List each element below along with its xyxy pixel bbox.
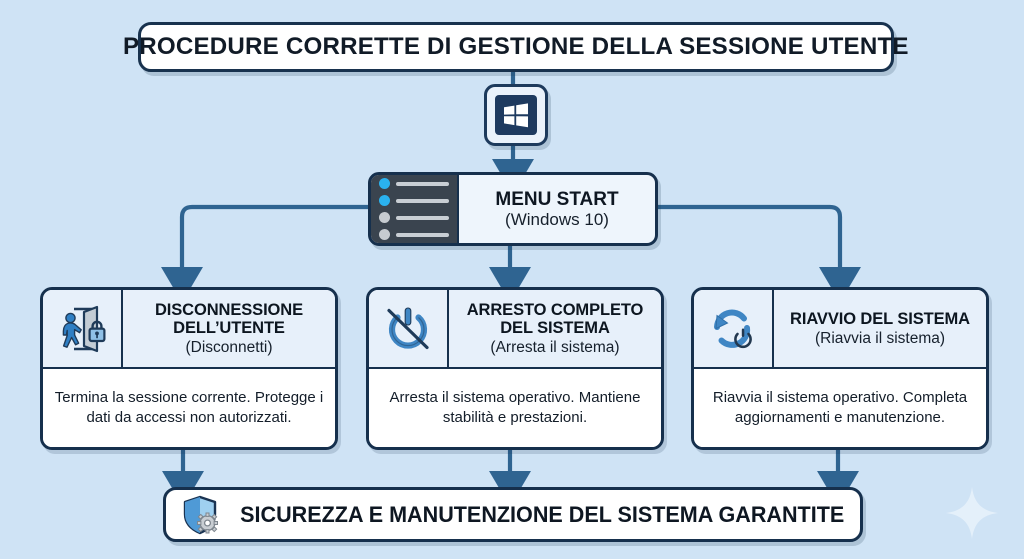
start-menu-subtitle: (Windows 10) — [505, 210, 609, 229]
menu-dot-inactive — [379, 229, 390, 240]
card-description-area: Riavvia il sistema operativo. Completa a… — [694, 369, 986, 447]
card-description-area: Termina la sessione corrente. Protegge i… — [43, 369, 335, 447]
card-description: Termina la sessione corrente. Protegge i… — [51, 388, 327, 429]
windows-logo-chip — [484, 84, 548, 146]
card-subtitle: (Disconnetti) — [186, 339, 273, 356]
menu-bar — [396, 199, 449, 203]
card-header: ARRESTO COMPLETO DEL SISTEMA (Arresta il… — [369, 290, 661, 369]
menu-icon-row — [379, 212, 449, 223]
menu-icon-row — [379, 178, 449, 189]
card-description: Arresta il sistema operativo. Mantiene s… — [377, 388, 653, 429]
restart-power-glyph — [705, 301, 761, 357]
card-titles: DISCONNESSIONE DELL’UTENTE (Disconnetti) — [123, 290, 335, 367]
windows-logo-glyph — [503, 103, 529, 128]
card-titles: RIAVVIO DEL SISTEMA (Riavvia il sistema) — [774, 290, 986, 367]
card-header: RIAVVIO DEL SISTEMA (Riavvia il sistema) — [694, 290, 986, 369]
card-title-line1: ARRESTO COMPLETO — [467, 301, 644, 319]
card-title-line1: DISCONNESSIONE — [155, 301, 303, 319]
card-subtitle: (Riavvia il sistema) — [815, 330, 945, 347]
card-description: Riavvia il sistema operativo. Completa a… — [702, 388, 978, 429]
menu-icon-row — [379, 195, 449, 206]
shield-gear-glyph — [180, 495, 220, 535]
menu-dot-inactive — [379, 212, 390, 223]
card-description-area: Arresta il sistema operativo. Mantiene s… — [369, 369, 661, 447]
diagram-canvas: PROCEDURE CORRETTE DI GESTIONE DELLA SES… — [0, 0, 1024, 559]
option-card-shutdown: ARRESTO COMPLETO DEL SISTEMA (Arresta il… — [366, 287, 664, 450]
power-off-slash-icon — [369, 290, 449, 367]
option-card-restart: RIAVVIO DEL SISTEMA (Riavvia il sistema)… — [691, 287, 989, 450]
sign-out-door-lock-icon — [43, 290, 123, 367]
diagram-title-banner: PROCEDURE CORRETTE DI GESTIONE DELLA SES… — [138, 22, 894, 72]
page-title: PROCEDURE CORRETTE DI GESTIONE DELLA SES… — [123, 33, 909, 61]
menu-bar — [396, 216, 449, 220]
start-menu-labels: MENU START (Windows 10) — [459, 175, 655, 243]
footer-banner: SICUREZZA E MANUTENZIONE DEL SISTEMA GAR… — [163, 487, 863, 542]
card-subtitle: (Arresta il sistema) — [490, 339, 619, 356]
menu-bar — [396, 233, 449, 237]
card-title-line2: DEL SISTEMA — [500, 319, 610, 337]
shield-gear-icon — [180, 495, 220, 535]
start-menu-node: MENU START (Windows 10) — [368, 172, 658, 246]
menu-dot-active — [379, 195, 390, 206]
restart-power-icon — [694, 290, 774, 367]
menu-dot-active — [379, 178, 390, 189]
menu-bar — [396, 182, 449, 186]
sign-out-door-lock-glyph — [54, 301, 110, 357]
windows-logo-icon — [495, 95, 537, 135]
card-header: DISCONNESSIONE DELL’UTENTE (Disconnetti) — [43, 290, 335, 369]
power-off-slash-glyph — [380, 301, 436, 357]
start-menu-title: MENU START — [495, 189, 618, 210]
footer-text: SICUREZZA E MANUTENZIONE DEL SISTEMA GAR… — [240, 502, 844, 528]
start-menu-list-icon — [371, 175, 459, 243]
option-card-logoff: DISCONNESSIONE DELL’UTENTE (Disconnetti)… — [40, 287, 338, 450]
card-title-line1: RIAVVIO DEL SISTEMA — [790, 310, 970, 328]
card-titles: ARRESTO COMPLETO DEL SISTEMA (Arresta il… — [449, 290, 661, 367]
card-title-line2: DELL’UTENTE — [173, 319, 285, 337]
menu-icon-row — [379, 229, 449, 240]
